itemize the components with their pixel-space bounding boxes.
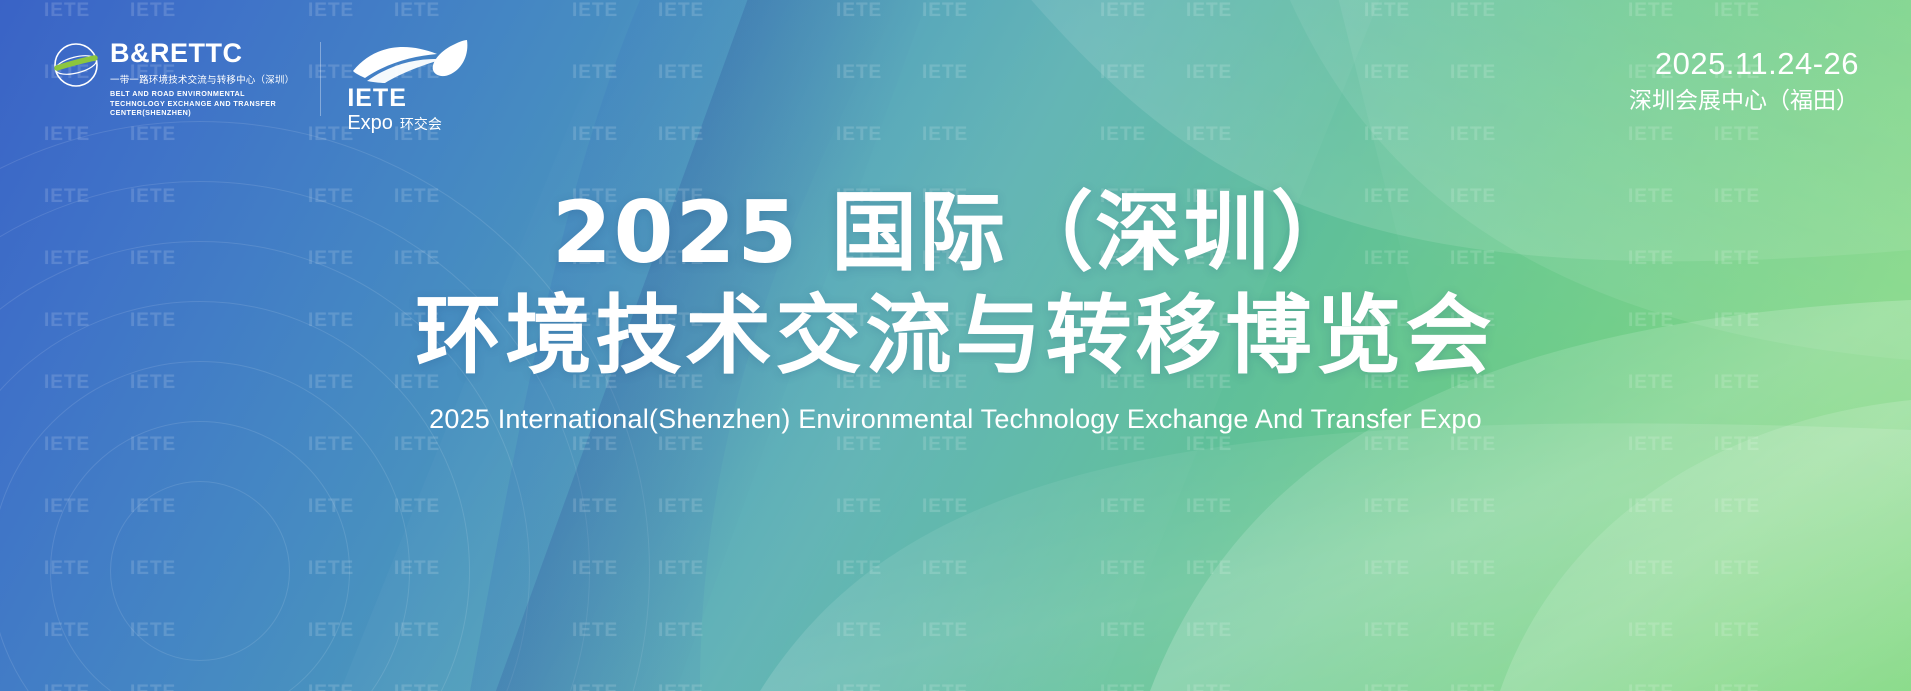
event-banner: IETEIETEIETEIETEIETEIETEIETEIETEIETEIETE… [0, 0, 1911, 691]
event-meta: 2025.11.24-26 深圳会展中心（福田） [1629, 46, 1859, 117]
iete-expo-logo: IETE Expo 环交会 [347, 38, 471, 133]
iete-subtitle: Expo 环交会 [347, 113, 442, 133]
banner-header: B&RETTC 一带一路环境技术交流与转移中心（深圳） BELT AND ROA… [0, 0, 1911, 150]
iete-expo-label: Expo [347, 113, 393, 133]
brettc-name: B&RETTC [110, 40, 294, 67]
iete-name: IETE [347, 86, 407, 111]
brettc-logo: B&RETTC 一带一路环境技术交流与转移中心（深圳） BELT AND ROA… [52, 38, 294, 118]
title-block: 2025 国际（深圳） 环境技术交流与转移博览会 2025 Internatio… [0, 188, 1911, 435]
event-date: 2025.11.24-26 [1629, 46, 1859, 82]
title-line-2: 环境技术交流与转移博览会 [0, 291, 1911, 382]
title-line-1: 2025 国际（深圳） [0, 188, 1911, 279]
logo-group: B&RETTC 一带一路环境技术交流与转移中心（深圳） BELT AND ROA… [52, 38, 471, 133]
wave-leaf-icon [351, 38, 471, 84]
iete-name-cn: 环交会 [400, 118, 442, 132]
brettc-subtitle-cn: 一带一路环境技术交流与转移中心（深圳） [110, 72, 294, 86]
brettc-text-block: B&RETTC 一带一路环境技术交流与转移中心（深圳） BELT AND ROA… [110, 38, 294, 118]
globe-circle-icon [52, 41, 100, 89]
brettc-subtitle-en: BELT AND ROAD ENVIRONMENTAL TECHNOLOGY E… [110, 89, 282, 118]
event-venue: 深圳会展中心（福田） [1629, 87, 1859, 117]
logo-divider [320, 42, 321, 116]
title-subtitle-en: 2025 International(Shenzhen) Environment… [0, 404, 1911, 435]
